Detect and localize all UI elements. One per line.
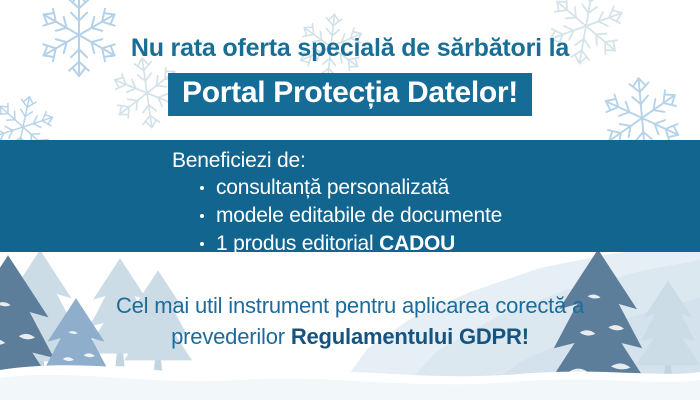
benefit-text-bold: CADOU [379, 232, 455, 255]
bullet-dot-icon [200, 214, 204, 218]
benefit-text: modele editabile de documente [216, 204, 502, 227]
bullet-dot-icon [200, 242, 204, 246]
benefit-item: 1 produs editorial CADOU [198, 230, 502, 258]
headline-text: Nu rata oferta specială de sărbători la [0, 34, 700, 63]
benefit-item: consultanță personalizată [198, 174, 502, 202]
benefit-text: 1 produs editorial [216, 232, 379, 255]
bullet-dot-icon [200, 186, 204, 190]
offer-band-content: Beneficiezi de: consultanță personalizat… [172, 149, 502, 258]
benefit-item: modele editabile de documente [198, 202, 502, 230]
benefit-text: consultanță personalizată [216, 176, 449, 199]
offer-lead-text: Beneficiezi de: [172, 149, 502, 174]
banner-header: Nu rata oferta specială de sărbători la … [0, 0, 700, 140]
winter-promo-banner: Nu rata oferta specială de sărbători la … [0, 0, 700, 400]
title-highlight-box: Portal Protecția Datelor! [168, 73, 532, 116]
tagline-line-2-prefix: prevederilor [171, 324, 291, 349]
tagline-line-1: Cel mai util instrument pentru aplicarea… [0, 290, 700, 321]
tagline-line-2-bold: Regulamentului GDPR! [291, 324, 529, 349]
product-title: Portal Protecția Datelor! [182, 77, 518, 109]
winter-scene: Cel mai util instrument pentru aplicarea… [0, 252, 700, 400]
tagline-block: Cel mai util instrument pentru aplicarea… [0, 290, 700, 352]
tagline-line-2: prevederilor Regulamentului GDPR! [0, 321, 700, 352]
offer-band: Beneficiezi de: consultanță personalizat… [0, 140, 700, 252]
benefits-list: consultanță personalizatămodele editabil… [172, 174, 502, 258]
